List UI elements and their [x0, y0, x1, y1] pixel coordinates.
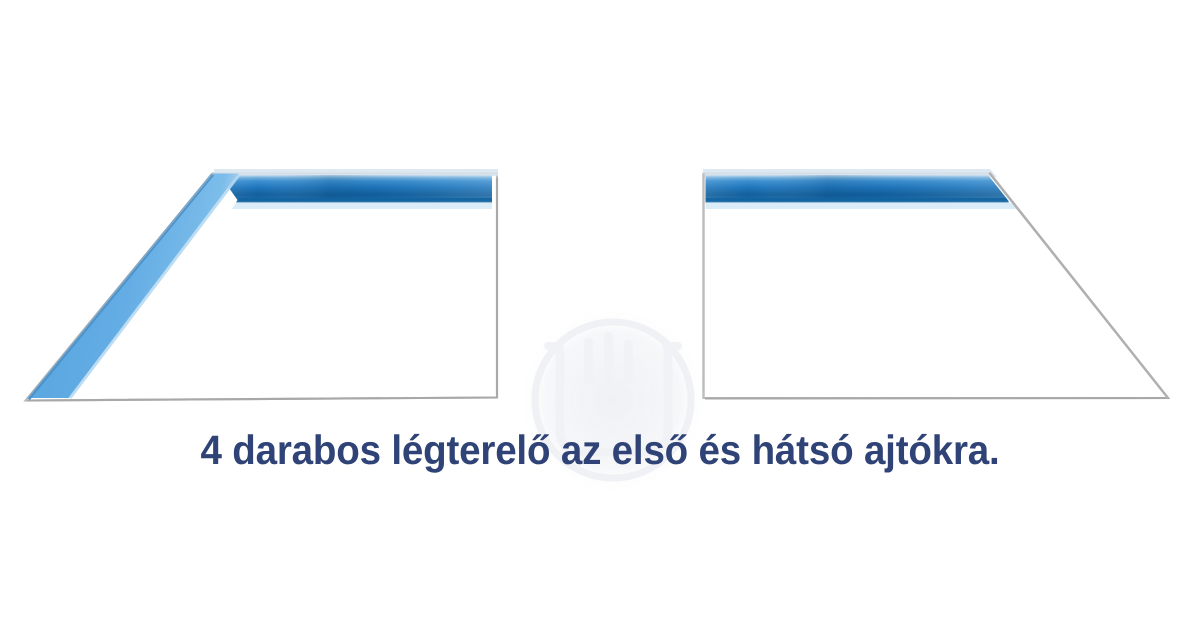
rear-band-underglow — [706, 203, 1017, 209]
front-door-deflector — [26, 169, 499, 401]
front-band-underglow — [232, 203, 492, 209]
rear-band-lower-lip — [706, 198, 1010, 203]
illustration-canvas: 4 darabos légterelő az első és hátsó ajt… — [0, 0, 1200, 630]
front-band-top-highlight — [214, 169, 498, 176]
front-band-lower-lip — [236, 198, 492, 203]
caption-text: 4 darabos légterelő az első és hátsó ajt… — [36, 424, 1164, 476]
front-deflector-band-top-sheen — [220, 175, 492, 202]
deflector-figure — [0, 0, 1200, 630]
rear-deflector-band-top-sheen — [706, 175, 1010, 202]
rear-door-deflector — [703, 169, 1168, 399]
